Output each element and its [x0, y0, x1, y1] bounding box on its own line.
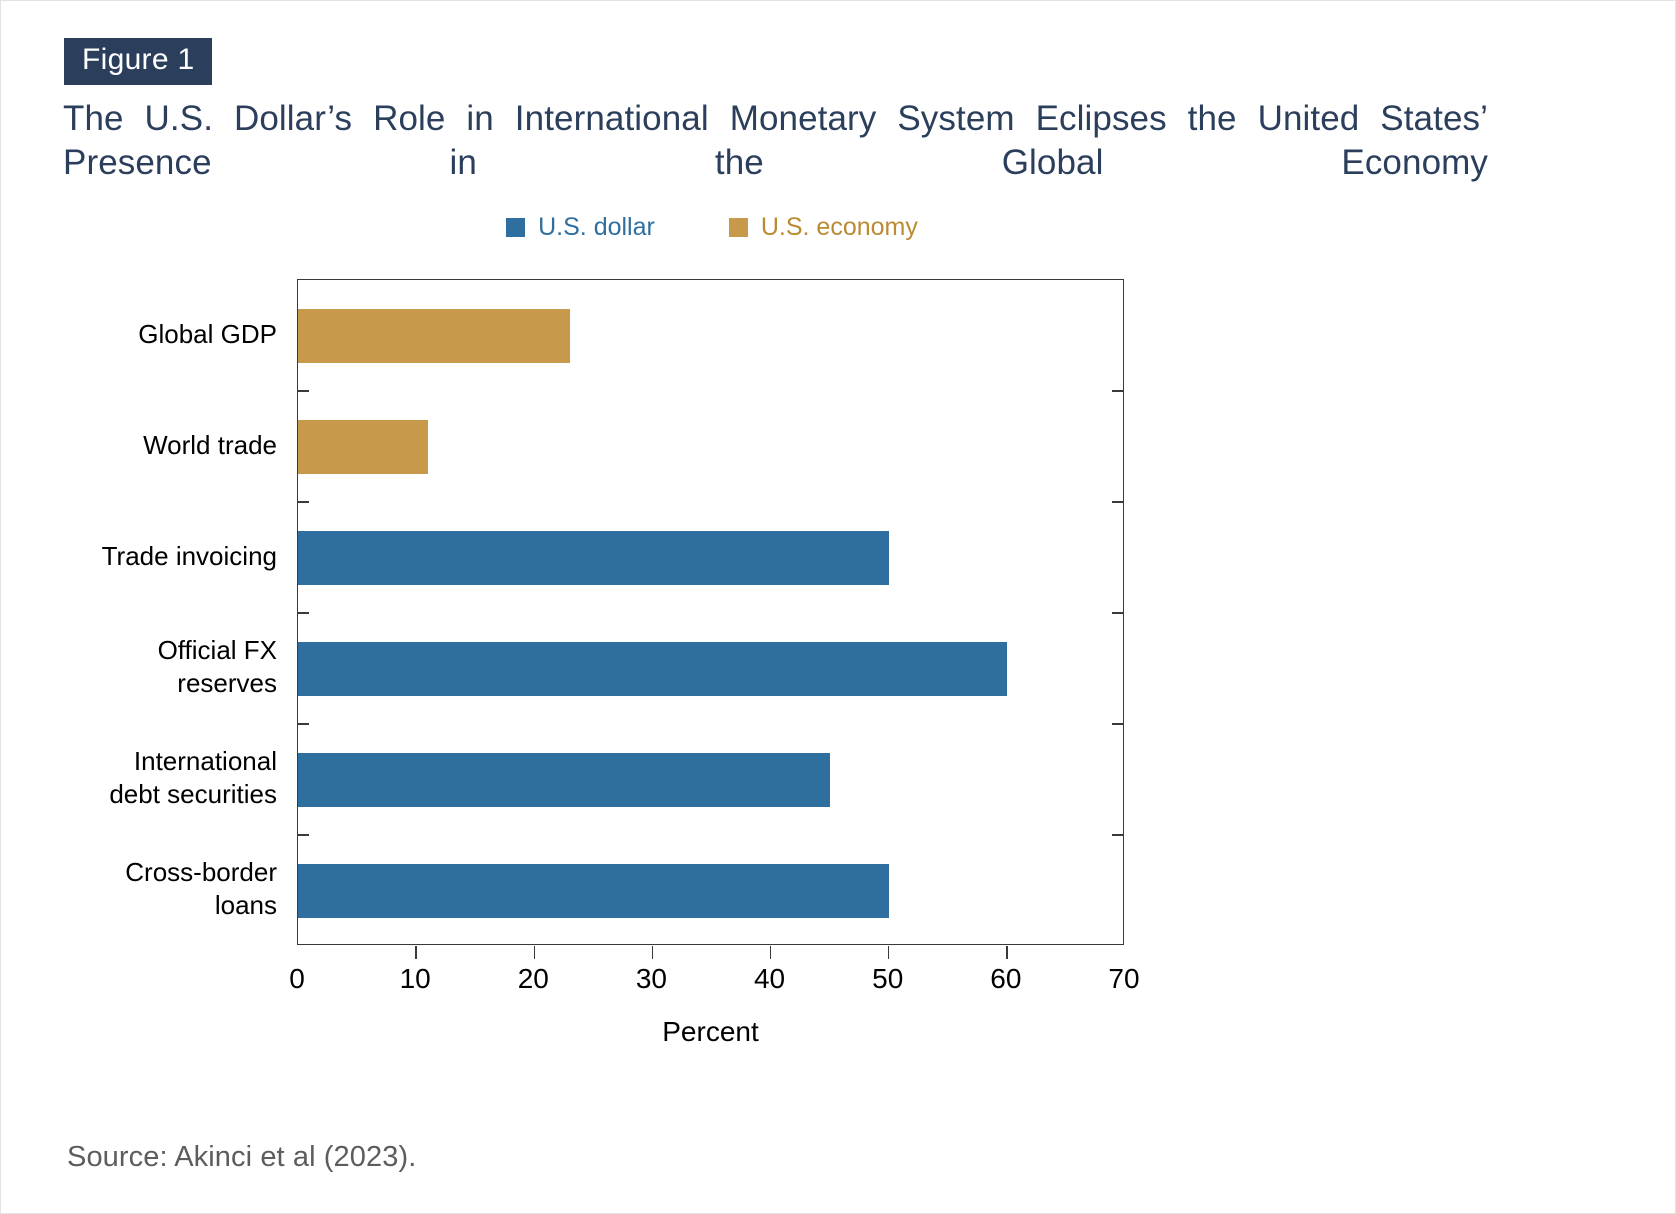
y-axis-tick-mark	[298, 390, 309, 392]
y-axis-tick-mark	[1112, 612, 1123, 614]
figure-number-badge: Figure 1	[64, 38, 212, 85]
chart-bar[interactable]	[298, 420, 428, 474]
x-axis-title: Percent	[297, 1016, 1124, 1048]
x-axis-tick-labels: 010203040506070	[297, 963, 1124, 1003]
legend-swatch-icon	[729, 218, 748, 237]
y-axis-tick-mark	[1112, 390, 1123, 392]
x-axis-tick-mark	[534, 946, 536, 959]
chart-bar-row	[298, 391, 1123, 502]
x-axis-tick-label: 60	[990, 963, 1021, 995]
legend-swatch-icon	[506, 218, 525, 237]
chart-bar[interactable]	[298, 309, 570, 363]
legend-item-label: U.S. dollar	[538, 215, 655, 240]
y-axis-category-label: Cross-border loans	[59, 856, 277, 924]
x-axis-tick-label: 50	[872, 963, 903, 995]
y-axis-category-label: World trade	[59, 429, 277, 463]
legend-item[interactable]: U.S. dollar	[506, 215, 655, 240]
chart-bar[interactable]	[298, 864, 889, 918]
page-title: The U.S. Dollar’s Role in International …	[63, 97, 1488, 229]
y-axis-tick-mark	[1112, 723, 1123, 725]
x-axis-tick-label: 70	[1108, 963, 1139, 995]
chart-bar[interactable]	[298, 753, 830, 807]
chart-bar-row	[298, 502, 1123, 613]
y-axis-category-label: International debt securities	[59, 745, 277, 813]
x-axis-tick-mark	[770, 946, 772, 959]
y-axis-tick-mark	[298, 501, 309, 503]
y-axis-tick-mark	[1112, 501, 1123, 503]
source-note: Source: Akinci et al (2023).	[67, 1141, 416, 1174]
chart-bar[interactable]	[298, 642, 1007, 696]
chart-bar-row	[298, 280, 1123, 391]
x-axis-tick-label: 30	[636, 963, 667, 995]
legend-item[interactable]: U.S. economy	[729, 215, 918, 240]
x-axis-tick-mark	[652, 946, 654, 959]
x-axis-tick-label: 0	[289, 963, 305, 995]
y-axis-tick-mark	[298, 612, 309, 614]
chart-plot-area	[297, 279, 1124, 945]
chart-bar-row	[298, 724, 1123, 835]
x-axis-tick-label: 20	[518, 963, 549, 995]
chart-bar[interactable]	[298, 531, 889, 585]
y-axis-category-label: Global GDP	[59, 318, 277, 352]
x-axis-tick-mark	[1006, 946, 1008, 959]
chart-bar-row	[298, 613, 1123, 724]
y-axis-category-label: Trade invoicing	[59, 540, 277, 574]
legend-item-label: U.S. economy	[761, 215, 918, 240]
x-axis-tick-label: 40	[754, 963, 785, 995]
x-axis-tick-label: 10	[400, 963, 431, 995]
chart-legend: U.S. dollarU.S. economy	[297, 215, 1127, 240]
chart-bar-row	[298, 835, 1123, 946]
x-axis-tick-mark	[888, 946, 890, 959]
y-axis-tick-mark	[298, 834, 309, 836]
x-axis-tick-mark	[415, 946, 417, 959]
y-axis-tick-mark	[298, 723, 309, 725]
y-axis-tick-mark	[1112, 834, 1123, 836]
figure-card: Figure 1 The U.S. Dollar’s Role in Inter…	[0, 0, 1676, 1214]
y-axis-category-label: Official FX reserves	[59, 634, 277, 702]
